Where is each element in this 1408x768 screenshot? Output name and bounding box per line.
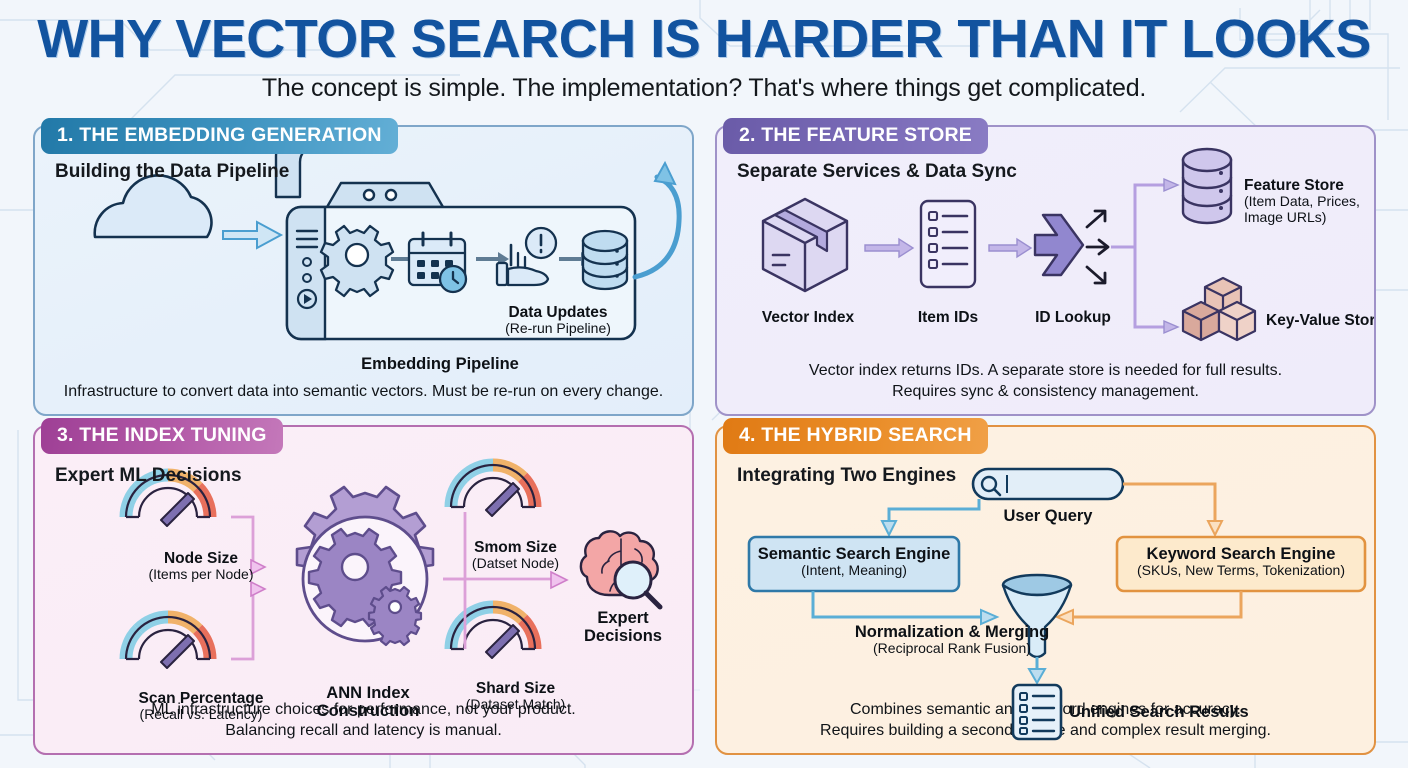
label-feature-store: Feature Store (Item Data, Prices, Image … (1244, 177, 1374, 226)
arrowhead-data-update (655, 163, 675, 184)
arrow-index-to-ids (865, 239, 913, 257)
label-normalization-merging: Normalization & Merging (Reciprocal Rank… (827, 623, 1077, 657)
panel-badge-3: 3. THE INDEX TUNING (41, 418, 283, 454)
cloud-icon (95, 175, 212, 237)
panel-badge-2: 2. THE FEATURE STORE (723, 118, 988, 154)
path-query-to-semantic (889, 499, 979, 525)
connector-lines-left (231, 517, 253, 659)
panel-badge-4: 4. THE HYBRID SEARCH (723, 418, 988, 454)
infographic-page: WHY VECTOR SEARCH IS HARDER THAN IT LOOK… (0, 0, 1408, 768)
id-lookup-fan-icon (1035, 211, 1108, 283)
search-input[interactable] (978, 475, 1118, 497)
panel-hybrid-search: User Query Semantic Search Engine (Inten… (715, 425, 1376, 755)
label-expert-decisions: Expert Decisions (548, 609, 692, 646)
label-smom-size: Smom Size (Datset Node) (423, 539, 608, 572)
label-user-query: User Query (973, 507, 1123, 525)
database-icon (583, 231, 627, 289)
arrowhead-semantic-funnel (981, 610, 997, 624)
page-header: WHY VECTOR SEARCH IS HARDER THAN IT LOOK… (0, 0, 1408, 103)
arrowhead-to-brain (551, 572, 567, 588)
label-data-updates: Data Updates (Re-run Pipeline) (473, 304, 643, 337)
arrow-data-update-loop (635, 177, 679, 277)
panel-feature-store: Vector Index Item IDs ID Lookup Feature … (715, 125, 1376, 416)
arrowhead-kv-store (1164, 321, 1178, 333)
label-node-size: Node Size (Items per Node) (101, 550, 301, 583)
label-vector-index: Vector Index (743, 309, 873, 326)
label-unified-results: Unified Search Results (1069, 703, 1289, 721)
panel-subtitle-1: Building the Data Pipeline (55, 161, 289, 183)
arrowhead-to-semantic (882, 521, 896, 535)
calendar-clock-icon (409, 233, 466, 292)
list-document-icon (921, 201, 975, 287)
label-item-ids: Item IDs (893, 309, 1003, 326)
panel-index-tuning: Node Size (Items per Node) Scan Percenta… (33, 425, 694, 755)
path-keyword-to-funnel (1069, 591, 1241, 617)
page-title: WHY VECTOR SEARCH IS HARDER THAN IT LOOK… (0, 12, 1408, 67)
feature-store-database-icon (1183, 149, 1231, 223)
arrowhead-left-bottom (251, 582, 265, 596)
label-semantic-engine: Semantic Search Engine (Intent, Meaning) (751, 545, 957, 579)
gauge-scan-percentage (126, 617, 210, 668)
label-id-lookup: ID Lookup (1013, 309, 1133, 326)
arrowhead-to-results (1029, 669, 1045, 683)
path-query-to-keyword (1123, 484, 1215, 525)
ann-gear-icon (297, 487, 433, 645)
path-semantic-to-funnel (813, 591, 985, 617)
gauge-smom-size (451, 465, 535, 516)
panel-grid: Raw Data (Text, Images, etc.) Data Updat… (33, 125, 1376, 755)
key-value-store-icon (1183, 278, 1255, 340)
panel-badge-1: 1. THE EMBEDDING GENERATION (41, 118, 398, 154)
page-subtitle: The concept is simple. The implementatio… (0, 74, 1408, 103)
arrow-cloud-to-pipeline (223, 222, 281, 248)
panel-embedding-generation: Raw Data (Text, Images, etc.) Data Updat… (33, 125, 694, 416)
label-embedding-pipeline: Embedding Pipeline (300, 355, 580, 373)
panel-subtitle-3: Expert ML Decisions (55, 465, 242, 487)
label-shard-size: Shard Size (Dataset Match) (423, 680, 608, 713)
arrowhead-to-keyword (1208, 521, 1222, 535)
branch-lines-to-stores (1111, 185, 1165, 327)
panel-subtitle-4: Integrating Two Engines (737, 465, 956, 487)
label-key-value-store: Key-Value Store (1266, 312, 1374, 329)
results-list-icon (1013, 685, 1061, 739)
label-keyword-engine: Keyword Search Engine (SKUs, New Terms, … (1118, 545, 1364, 579)
panel-subtitle-2: Separate Services & Data Sync (737, 161, 1017, 183)
package-box-icon (763, 199, 847, 291)
arrow-ids-to-lookup (989, 239, 1031, 257)
arrowhead-feature-store (1164, 179, 1178, 191)
